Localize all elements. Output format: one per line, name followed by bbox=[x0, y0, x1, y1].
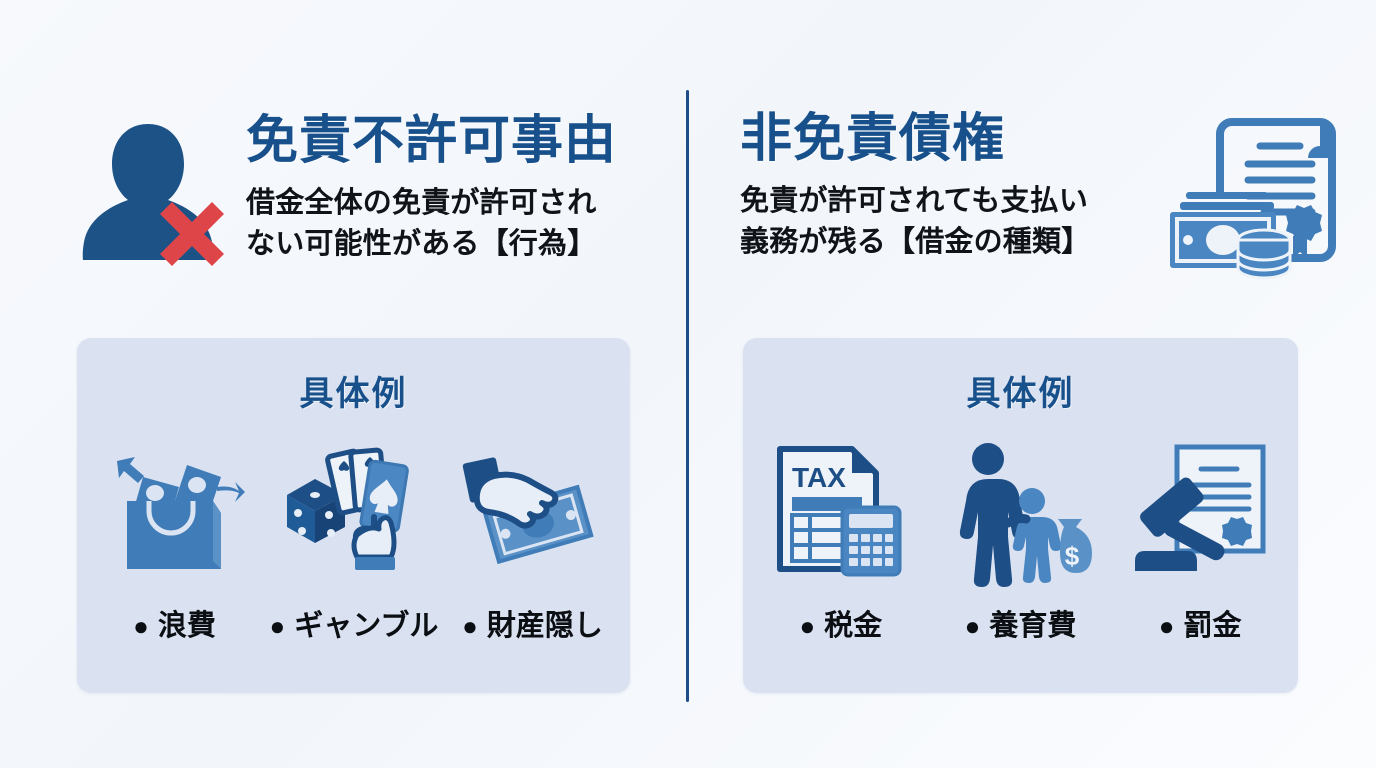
list-item[interactable]: $ ●養育費 bbox=[936, 434, 1104, 644]
right-subtitle: 免責が許可されても支払い 義務が残る【借金の種類】 bbox=[740, 181, 1152, 263]
left-header: 免責不許可事由 借金全体の免責が許可され ない可能性がある【行為】 bbox=[68, 110, 648, 270]
right-header: 非免責債権 免責が許可されても支払い 義務が残る【借金の種類】 bbox=[740, 108, 1360, 298]
bullet-icon: ● bbox=[133, 611, 149, 641]
list-item-label: ●浪費 bbox=[91, 602, 259, 644]
list-item-label: ●養育費 bbox=[936, 602, 1104, 644]
list-item[interactable]: ●財産隠し bbox=[449, 434, 617, 644]
left-subtitle-line1: 借金全体の免責が許可され bbox=[246, 183, 648, 224]
right-panel: 非免責債権 免責が許可されても支払い 義務が残る【借金の種類】 bbox=[690, 0, 1376, 768]
left-examples-card: 具体例 bbox=[77, 338, 630, 693]
right-subtitle-line1: 免責が許可されても支払い bbox=[740, 181, 1152, 222]
dice-and-cards-icon bbox=[270, 434, 438, 584]
right-card-title: 具体例 bbox=[743, 366, 1298, 415]
parent-child-moneybag-icon: $ bbox=[936, 434, 1104, 584]
left-subtitle-line2: ない可能性がある【行為】 bbox=[246, 224, 648, 265]
left-subtitle: 借金全体の免責が許可され ない可能性がある【行為】 bbox=[246, 183, 648, 265]
bullet-icon: ● bbox=[270, 611, 286, 641]
shopping-bag-money-icon bbox=[91, 434, 259, 584]
bullet-icon: ● bbox=[462, 611, 478, 641]
right-subtitle-line2: 義務が残る【借金の種類】 bbox=[740, 222, 1152, 263]
list-item[interactable]: TAX bbox=[757, 434, 925, 644]
left-panel: 免責不許可事由 借金全体の免責が許可され ない可能性がある【行為】 具体例 bbox=[0, 0, 686, 768]
tax-label: TAX bbox=[792, 462, 846, 493]
vertical-divider bbox=[686, 90, 689, 702]
tax-document-calculator-icon: TAX bbox=[757, 434, 925, 584]
right-examples-card: 具体例 TAX bbox=[743, 338, 1298, 693]
left-card-items: ●浪費 bbox=[77, 434, 630, 644]
hand-hiding-money-icon bbox=[449, 434, 617, 584]
bullet-icon: ● bbox=[1159, 611, 1175, 641]
bullet-icon: ● bbox=[965, 611, 981, 641]
gavel-certificate-icon bbox=[1116, 434, 1284, 584]
bullet-icon: ● bbox=[799, 611, 815, 641]
list-item[interactable]: ●ギャンブル bbox=[270, 434, 438, 644]
left-title: 免責不許可事由 bbox=[246, 114, 648, 169]
left-card-title: 具体例 bbox=[77, 366, 630, 415]
list-item-label: ●財産隠し bbox=[449, 602, 617, 644]
list-item[interactable]: ●罰金 bbox=[1116, 434, 1284, 644]
right-card-items: TAX bbox=[743, 434, 1298, 644]
list-item-label: ●罰金 bbox=[1116, 602, 1284, 644]
certificate-money-coins-icon bbox=[1160, 108, 1360, 298]
person-with-red-x-icon bbox=[68, 110, 228, 270]
right-title: 非免責債権 bbox=[740, 112, 1152, 167]
infographic-canvas: 免責不許可事由 借金全体の免責が許可され ない可能性がある【行為】 具体例 bbox=[0, 0, 1376, 768]
list-item-label: ●税金 bbox=[757, 602, 925, 644]
list-item-label: ●ギャンブル bbox=[270, 602, 438, 644]
money-symbol: $ bbox=[1065, 541, 1080, 571]
list-item[interactable]: ●浪費 bbox=[91, 434, 259, 644]
